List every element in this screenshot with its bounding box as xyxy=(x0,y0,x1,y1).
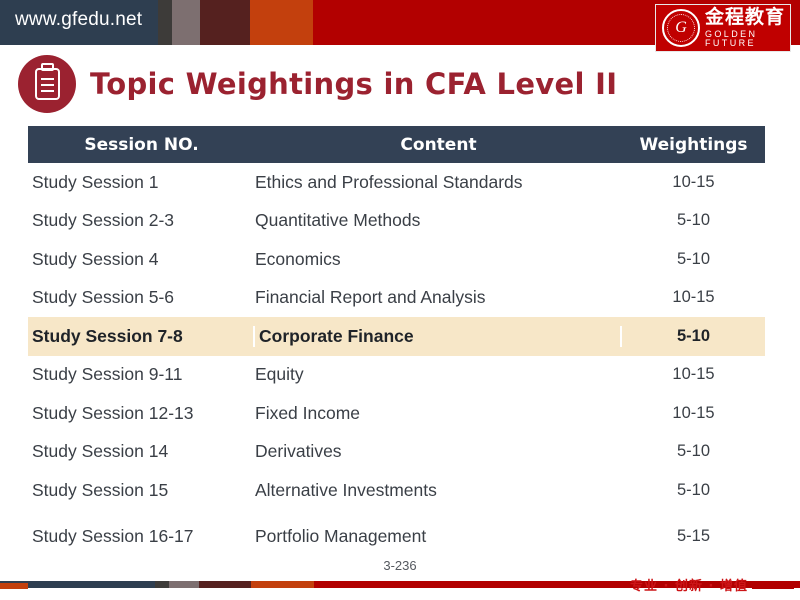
column-header-weighting: Weightings xyxy=(622,135,765,155)
band-dark-maroon xyxy=(200,0,250,45)
cell-session: Study Session 5-6 xyxy=(28,287,255,308)
cell-session: Study Session 12-13 xyxy=(28,403,255,424)
cell-session: Study Session 15 xyxy=(28,480,255,501)
cell-content: Equity xyxy=(255,364,622,385)
table-row[interactable]: Study Session 2-3Quantitative Methods5-1… xyxy=(28,202,765,241)
logo-seal-icon: G xyxy=(662,9,700,47)
cell-content: Alternative Investments xyxy=(255,480,622,501)
footer-band-dark-maroon xyxy=(199,581,251,588)
logo-seal-glyph: G xyxy=(675,19,687,37)
cell-weighting: 5-10 xyxy=(622,211,765,230)
cell-content: Quantitative Methods xyxy=(255,210,622,231)
table-row[interactable]: Study Session 4Economics5-10 xyxy=(28,240,765,279)
column-header-content: Content xyxy=(255,135,622,155)
cell-session: Study Session 4 xyxy=(28,249,255,270)
cell-content: Derivatives xyxy=(255,441,622,462)
cell-weighting: 5-10 xyxy=(622,481,765,500)
page-number: 3-236 xyxy=(0,558,800,573)
table-row[interactable]: Study Session 15Alternative Investments5… xyxy=(28,471,765,510)
band-dark-gray xyxy=(158,0,172,45)
table-header-row: Session NO. Content Weightings xyxy=(28,126,765,163)
cell-weighting: 5-10 xyxy=(622,250,765,269)
logo-en-name: GOLDEN FUTURE xyxy=(705,30,790,48)
cell-content: Economics xyxy=(255,249,622,270)
table-row[interactable]: Study Session 16-17Portfolio Management5… xyxy=(28,518,765,557)
cell-session: Study Session 16-17 xyxy=(28,526,255,547)
cell-content: Financial Report and Analysis xyxy=(255,287,622,308)
table-row-highlighted[interactable]: Study Session 7-8Corporate Finance5-10 xyxy=(28,317,765,356)
slide-title-row: Topic Weightings in CFA Level II xyxy=(18,55,617,113)
page-title: Topic Weightings in CFA Level II xyxy=(90,67,617,101)
cell-weighting: 5-10 xyxy=(622,327,765,346)
logo-cn-name: 金程教育 xyxy=(705,8,790,27)
footer-band-dark-gray xyxy=(155,581,169,588)
footer-accent-right xyxy=(752,583,794,589)
footer-slogan: 专业 · 创新 · 增值 xyxy=(630,575,748,594)
band-orange xyxy=(250,0,313,45)
table-row[interactable]: Study Session 9-11Equity10-15 xyxy=(28,356,765,395)
column-header-session: Session NO. xyxy=(28,135,255,155)
clipboard-icon xyxy=(18,55,76,113)
clipboard-line xyxy=(41,84,54,86)
clipboard-body xyxy=(35,68,60,100)
table-row[interactable]: Study Session 12-13Fixed Income10-15 xyxy=(28,394,765,433)
cell-content: Fixed Income xyxy=(255,403,622,424)
table-row[interactable]: Study Session 1Ethics and Professional S… xyxy=(28,163,765,202)
brand-logo: G 金程教育 GOLDEN FUTURE xyxy=(655,4,791,52)
cell-session: Study Session 7-8 xyxy=(28,326,255,347)
weightings-table: Session NO. Content Weightings Study Ses… xyxy=(28,126,765,556)
clipboard-line xyxy=(41,78,54,80)
cell-weighting: 10-15 xyxy=(622,404,765,423)
cell-weighting: 5-15 xyxy=(622,527,765,546)
cell-weighting: 5-10 xyxy=(622,442,765,461)
cell-session: Study Session 14 xyxy=(28,441,255,462)
logo-text-block: 金程教育 GOLDEN FUTURE xyxy=(705,8,790,48)
clipboard-line xyxy=(41,90,54,92)
cell-weighting: 10-15 xyxy=(622,173,765,192)
cell-session: Study Session 2-3 xyxy=(28,210,255,231)
cell-content: Corporate Finance xyxy=(255,326,622,347)
footer-band-mauve-gray xyxy=(169,581,199,588)
cell-content: Portfolio Management xyxy=(255,526,622,547)
table-row[interactable]: Study Session 14Derivatives5-10 xyxy=(28,433,765,472)
footer-accent-left xyxy=(0,583,28,589)
footer-band-orange xyxy=(251,581,314,588)
table-body: Study Session 1Ethics and Professional S… xyxy=(28,163,765,556)
cell-content: Ethics and Professional Standards xyxy=(255,172,622,193)
cell-weighting: 10-15 xyxy=(622,365,765,384)
cell-session: Study Session 1 xyxy=(28,172,255,193)
cell-weighting: 10-15 xyxy=(622,288,765,307)
site-url: www.gfedu.net xyxy=(15,9,142,31)
table-row-gap xyxy=(28,510,765,518)
band-mauve-gray xyxy=(172,0,200,45)
cell-session: Study Session 9-11 xyxy=(28,364,255,385)
slide-root: www.gfedu.net G 金程教育 GOLDEN FUTURE Topic… xyxy=(0,0,800,600)
table-row[interactable]: Study Session 5-6Financial Report and An… xyxy=(28,279,765,318)
